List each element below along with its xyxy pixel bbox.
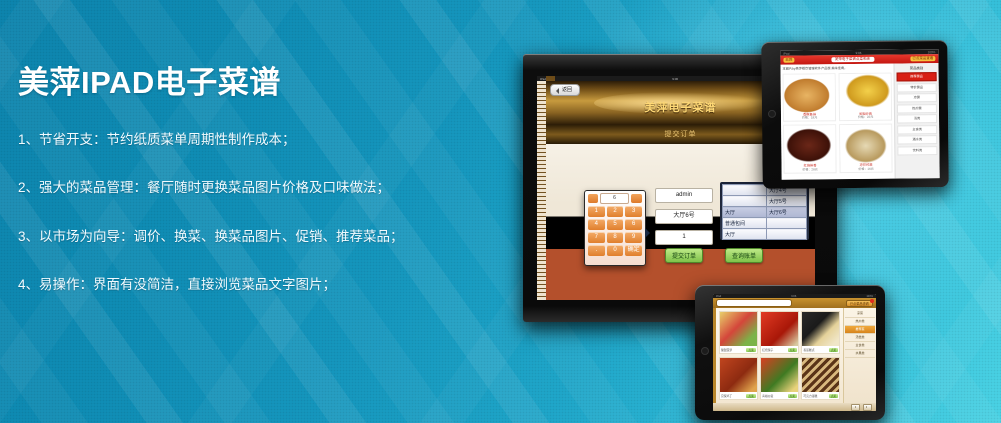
dish-meta: 酸甜菠萝 点菜 — [720, 346, 757, 353]
toolbar-title: 美萍电子菜谱点菜系统 — [831, 57, 874, 62]
table-row-selected[interactable]: 大厅 大厅6号 — [723, 207, 807, 218]
category-item-stirfry[interactable]: 热炒菜 — [897, 104, 937, 113]
dish-grid: 香酥鱼排 价格：18元 彩椒炒肉 价格：22元 红烧排骨 价格：28元 — [783, 72, 893, 173]
dish-card[interactable]: 红烧排骨 价格：28元 — [783, 124, 837, 173]
dish-price: 价格：22元 — [840, 116, 891, 120]
keypad-key[interactable]: 8 — [607, 232, 624, 243]
keypad-tag-icon — [588, 194, 598, 203]
keypad-key[interactable]: 9 — [625, 232, 642, 243]
table-row[interactable]: 大厅5号 — [723, 196, 807, 207]
dish-name: 青椒炒蛋 — [762, 394, 773, 398]
dish-image — [784, 125, 835, 164]
category-item-staple[interactable]: 主食类 — [845, 342, 875, 350]
table-selector[interactable]: 大厅4号 大厅5号 大厅 大厅6号 普通包间 — [720, 182, 809, 240]
keypad-key[interactable]: 0 — [607, 245, 624, 256]
table-area: 普通包间 — [723, 218, 767, 229]
table-area: 大厅 — [723, 229, 767, 240]
dish-card[interactable]: 红烧辣子 点菜 — [760, 311, 799, 354]
add-dish-button[interactable]: 点菜 — [829, 348, 838, 352]
keypad-key[interactable]: 2 — [607, 206, 624, 217]
add-dish-button[interactable]: 点菜 — [746, 394, 755, 398]
backspace-icon[interactable] — [631, 194, 642, 203]
pagination-bar — [713, 403, 876, 411]
dish-image — [720, 312, 757, 346]
category-item-soup[interactable]: 汤羹类 — [845, 334, 875, 342]
app-toolbar: 已点菜品查看 — [713, 298, 876, 308]
keypad-display-row: 6 — [588, 194, 642, 203]
category-item-cold[interactable]: 凉菜 — [897, 93, 937, 102]
dish-image — [840, 125, 891, 164]
dish-image — [840, 73, 891, 112]
submit-order-button[interactable]: 提交订单 — [665, 248, 703, 263]
dish-meta: 香煎糕点 点菜 — [802, 346, 839, 353]
category-item-recommended[interactable]: 推荐菜品 — [897, 72, 937, 81]
dish-name: 宫保鸡丁 — [721, 394, 732, 398]
category-item-cold[interactable]: 凉菜 — [845, 310, 875, 318]
add-dish-button[interactable]: 点菜 — [829, 394, 838, 398]
user-field[interactable]: admin — [655, 188, 713, 203]
status-battery: 100% — [928, 50, 936, 54]
dish-meta: 宫保鸡丁 点菜 — [720, 392, 757, 399]
dish-card[interactable]: 彩椒炒肉 价格：22元 — [839, 72, 893, 121]
feature-bullet-1: 1、节省开支：节约纸质菜单周期性制作成本； — [18, 130, 488, 150]
login-fields: admin 大厅6号 1 — [655, 188, 713, 251]
table-area — [723, 185, 767, 196]
table-field[interactable]: 大厅6号 — [655, 209, 713, 224]
keypad-confirm-key[interactable]: 确定 — [625, 245, 642, 256]
category-item-staple[interactable]: 主食类 — [897, 125, 937, 134]
query-bill-button[interactable]: 查询账单 — [725, 248, 763, 263]
dish-card[interactable]: 酸甜菠萝 点菜 — [719, 311, 758, 354]
dish-image — [802, 312, 839, 346]
next-page-icon[interactable] — [863, 404, 872, 411]
dish-price: 价格：18元 — [784, 116, 835, 120]
view-cart-button[interactable]: 已点菜品查看 — [846, 300, 873, 307]
dish-meta: 青椒炒蛋 点菜 — [761, 392, 798, 399]
tablet-device-bottom-right: iPad 9:06 100% 已点菜品查看 酸甜菠萝 点菜 — [695, 285, 885, 420]
dish-card[interactable]: 香煎糕点 点菜 — [801, 311, 840, 354]
add-dish-button[interactable]: 点菜 — [788, 394, 797, 398]
back-button[interactable]: 返回 — [550, 84, 580, 96]
keypad-key[interactable]: 6 — [625, 219, 642, 230]
status-clock: 9:06 — [791, 295, 796, 298]
table-area: 大厅 — [723, 207, 767, 218]
add-dish-button[interactable]: 点菜 — [746, 348, 755, 352]
category-item-recommended[interactable]: 推荐菜 — [845, 326, 875, 334]
table-seat — [766, 218, 806, 229]
feature-bullet-4: 4、易操作：界面有没简洁，直接浏览菜品文字图片； — [18, 275, 488, 295]
table-row[interactable]: 普通包间 — [723, 218, 807, 229]
page-title: 美萍IPAD电子菜谱 — [18, 66, 488, 100]
keypad-grid: 1 2 3 4 5 6 7 8 9 . 0 确定 — [588, 206, 642, 256]
category-item-alcohol[interactable]: 酒水类 — [897, 135, 937, 144]
sidebar-title: 菜品类别 — [896, 65, 936, 70]
view-cart-button[interactable]: 已点菜品查看 — [910, 56, 935, 61]
dish-name: 红烧辣子 — [762, 348, 773, 352]
dish-price: 价格：28元 — [785, 168, 836, 172]
category-sidebar: 菜品类别 推荐菜品 特价菜品 凉菜 热炒菜 汤类 主食类 酒水类 饮料类 — [893, 63, 939, 178]
count-field[interactable]: 1 — [655, 230, 713, 245]
dish-card[interactable]: 宫保鸡丁 点菜 — [719, 357, 758, 400]
dish-name: 酸甜菠萝 — [721, 348, 732, 352]
dish-grid: 酸甜菠萝 点菜 红烧辣子 点菜 香煎糕点 — [716, 308, 843, 403]
status-carrier: iPad — [716, 295, 721, 298]
keypad-key[interactable]: 1 — [588, 206, 605, 217]
dish-card[interactable]: 凉拌时蔬 价格：16元 — [839, 124, 893, 173]
pointer-arrow-icon — [645, 228, 655, 238]
keypad-key[interactable]: 3 — [625, 206, 642, 217]
category-item-fruit[interactable]: 水果类 — [845, 350, 875, 358]
keypad-key[interactable]: . — [588, 245, 605, 256]
dish-price: 价格：16元 — [841, 167, 892, 171]
table-list: 大厅4号 大厅5号 大厅 大厅6号 普通包间 — [722, 184, 807, 240]
tablet-top-right-screen: iPad 9:06 100% 返回 美萍电子菜谱点菜系统 已点菜品查看 本图片b… — [780, 49, 939, 180]
search-input[interactable] — [716, 299, 792, 307]
status-clock: 9:06 — [856, 50, 862, 54]
cart-label: 已点菜品查看 — [850, 302, 869, 306]
promo-banner: 美萍IPAD电子菜谱 1、节省开支：节约纸质菜单周期性制作成本； 2、强大的菜品… — [0, 0, 1001, 423]
numeric-keypad[interactable]: 6 1 2 3 4 5 6 7 8 9 . 0 — [584, 190, 646, 266]
cart-badge — [870, 299, 874, 303]
table-area — [723, 196, 767, 207]
app-body: 酸甜菠萝 点菜 红烧辣子 点菜 香煎糕点 — [713, 308, 876, 403]
home-button[interactable] — [768, 110, 776, 118]
dish-image — [784, 74, 835, 113]
table-seat — [766, 229, 806, 240]
dish-card[interactable]: 巧克力蛋糕 点菜 — [801, 357, 840, 400]
tablet-bottom-right-screen: iPad 9:06 100% 已点菜品查看 酸甜菠萝 点菜 — [713, 294, 876, 411]
dish-card[interactable]: 香酥鱼排 价格：18元 — [783, 73, 837, 122]
back-button[interactable]: 返回 — [783, 58, 794, 63]
category-item-soup[interactable]: 汤类 — [897, 114, 937, 123]
keypad-key[interactable]: 4 — [588, 219, 605, 230]
gallery-description: 本图片by美萍餐饮管理软件产品展 美味佳肴， — [782, 66, 891, 72]
tablet-device-top-right: iPad 9:06 100% 返回 美萍电子菜谱点菜系统 已点菜品查看 本图片b… — [761, 40, 949, 189]
keypad-display: 6 — [600, 193, 629, 204]
keypad-key[interactable]: 7 — [588, 232, 605, 243]
status-battery: 100% — [866, 295, 873, 298]
category-item-special[interactable]: 特价菜品 — [897, 83, 937, 92]
dish-name: 香煎糕点 — [803, 348, 814, 352]
greek-key-border — [537, 81, 546, 300]
dish-name: 巧克力蛋糕 — [803, 394, 817, 398]
previous-page-icon[interactable] — [851, 404, 860, 411]
dish-card[interactable]: 青椒炒蛋 点菜 — [760, 357, 799, 400]
add-dish-button[interactable]: 点菜 — [788, 348, 797, 352]
dish-image — [720, 358, 757, 392]
dish-meta: 红烧辣子 点菜 — [761, 346, 798, 353]
dish-image — [802, 358, 839, 392]
home-button[interactable] — [701, 347, 709, 355]
category-item-stirfry[interactable]: 热炒类 — [845, 318, 875, 326]
dish-image — [761, 358, 798, 392]
keypad-key[interactable]: 5 — [607, 219, 624, 230]
dish-image — [761, 312, 798, 346]
table-seat: 大厅5号 — [766, 196, 806, 207]
feature-bullet-2: 2、强大的菜品管理：餐厅随时更换菜品图片价格及口味做法； — [18, 178, 488, 198]
marketing-copy: 美萍IPAD电子菜谱 1、节省开支：节约纸质菜单周期性制作成本； 2、强大的菜品… — [18, 66, 488, 323]
dish-gallery: 本图片by美萍餐饮管理软件产品展 美味佳肴， 香酥鱼排 价格：18元 彩椒炒肉 … — [780, 64, 894, 180]
dish-meta: 巧克力蛋糕 点菜 — [802, 392, 839, 399]
category-item-drinks[interactable]: 饮料类 — [897, 146, 937, 155]
feature-bullet-3: 3、以市场为向导：调价、换菜、换菜品图片、促销、推荐菜品； — [18, 227, 488, 247]
table-seat: 大厅6号 — [766, 207, 806, 218]
action-buttons: 提交订单 查询账单 — [665, 248, 763, 263]
category-sidebar: 凉菜 热炒类 推荐菜 汤羹类 主食类 水果类 — [843, 308, 876, 403]
status-carrier: iPad — [783, 51, 789, 55]
table-row[interactable]: 大厅 — [723, 229, 807, 240]
app-body: 本图片by美萍餐饮管理软件产品展 美味佳肴， 香酥鱼排 价格：18元 彩椒炒肉 … — [780, 63, 939, 180]
